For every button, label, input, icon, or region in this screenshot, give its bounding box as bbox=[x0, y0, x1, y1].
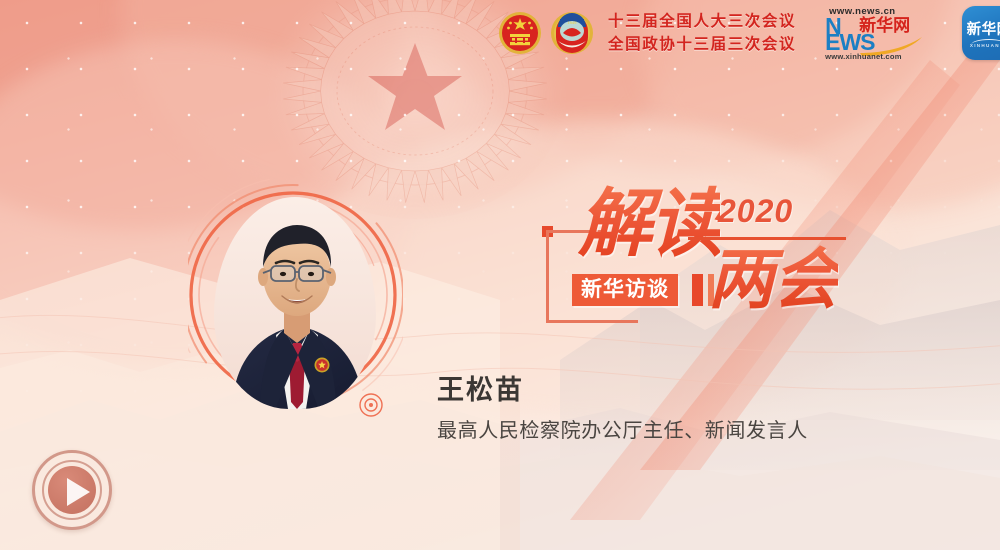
guest-role: 最高人民检察院办公厅主任、新闻发言人 bbox=[437, 418, 808, 444]
target-circle-decoration bbox=[358, 392, 384, 418]
xinhua-brand-cn: 新华网 bbox=[859, 17, 910, 35]
app-logo-sub: XINHUANET bbox=[962, 43, 1000, 48]
meeting-title-npc: 十三届全国人大三次会议 bbox=[608, 11, 796, 32]
title-rule bbox=[688, 237, 846, 240]
xinhua-app-logo[interactable]: 新华网 XINHUANET bbox=[962, 6, 1000, 60]
cppcc-emblem-icon: 1949 bbox=[550, 11, 594, 55]
meeting-titles: 十三届全国人大三次会议 全国政协十三届三次会议 bbox=[608, 11, 796, 55]
title-secondary: 两会 bbox=[708, 242, 838, 316]
play-button[interactable] bbox=[32, 450, 112, 530]
svg-text:1949: 1949 bbox=[568, 20, 578, 25]
meeting-title-cppcc: 全国政协十三届三次会议 bbox=[608, 34, 796, 55]
header: 1949 十三届全国人大三次会议 全国政协十三届三次会议 www.news.cn… bbox=[498, 6, 1000, 60]
guest-portrait bbox=[200, 185, 390, 420]
bracket-vertical-line bbox=[546, 230, 549, 323]
background-dot-pattern bbox=[0, 0, 1000, 550]
xinhua-url-bottom: www.xinhuanet.com bbox=[825, 52, 902, 61]
xinhua-news-logo[interactable]: www.news.cn N EWS 新华网 www.xinhuanet.com bbox=[820, 6, 928, 60]
play-triangle-icon bbox=[67, 478, 90, 506]
app-logo-brand: 新华网 bbox=[962, 18, 1000, 39]
title-tick-1 bbox=[692, 274, 703, 306]
title-badge: 新华访谈 bbox=[572, 274, 678, 306]
national-emblem-icon bbox=[498, 11, 542, 55]
program-title-lockup: 解读 新华访谈 2020 两会 bbox=[540, 190, 850, 335]
bracket-bottom-line bbox=[546, 320, 638, 323]
title-main: 解读 bbox=[578, 184, 720, 264]
guest-name: 王松苗 bbox=[437, 374, 524, 406]
interview-banner: 1949 十三届全国人大三次会议 全国政协十三届三次会议 www.news.cn… bbox=[0, 0, 1000, 550]
title-year: 2020 bbox=[718, 194, 793, 228]
